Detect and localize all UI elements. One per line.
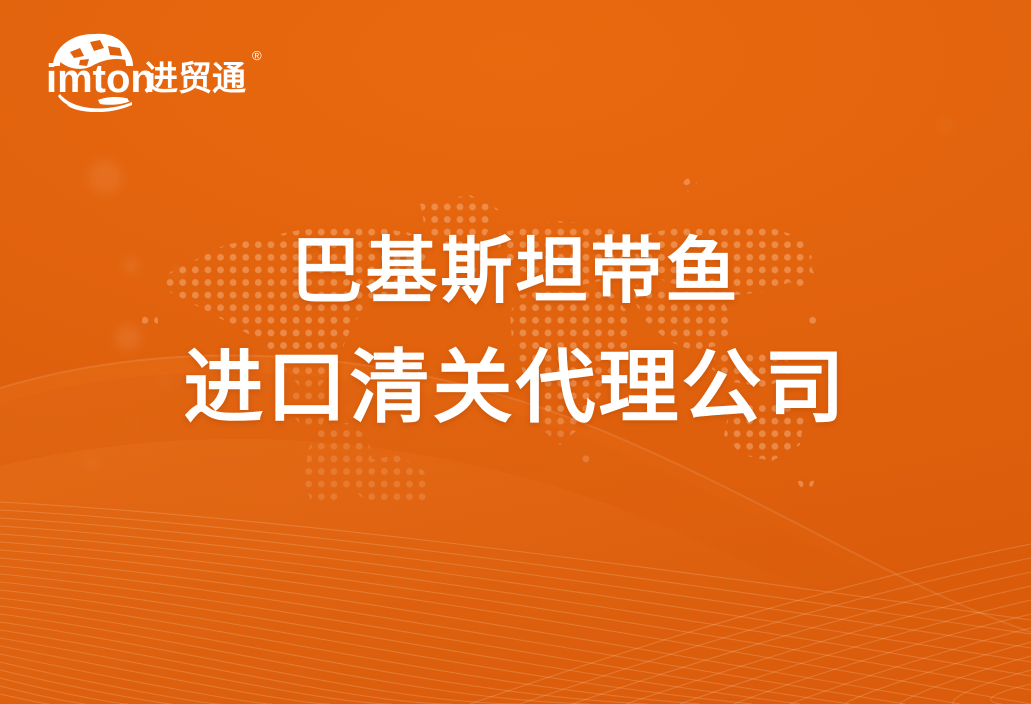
brand-logo[interactable]: imton 进贸通 ® <box>40 26 280 112</box>
headline-line-1: 巴基斯坦带鱼 <box>0 236 1031 308</box>
logo-trademark-symbol: ® <box>252 48 262 63</box>
logo-chinese-name: 进贸通 <box>144 60 246 98</box>
logo-wordmark: imton <box>46 57 155 101</box>
headline-line-2: 进口清关代理公司 <box>0 348 1031 428</box>
page-title: 巴基斯坦带鱼 进口清关代理公司 <box>0 236 1031 428</box>
promo-banner: imton 进贸通 ® 巴基斯坦带鱼 进口清关代理公司 <box>0 0 1031 704</box>
bottom-contour-lines <box>0 424 1031 704</box>
